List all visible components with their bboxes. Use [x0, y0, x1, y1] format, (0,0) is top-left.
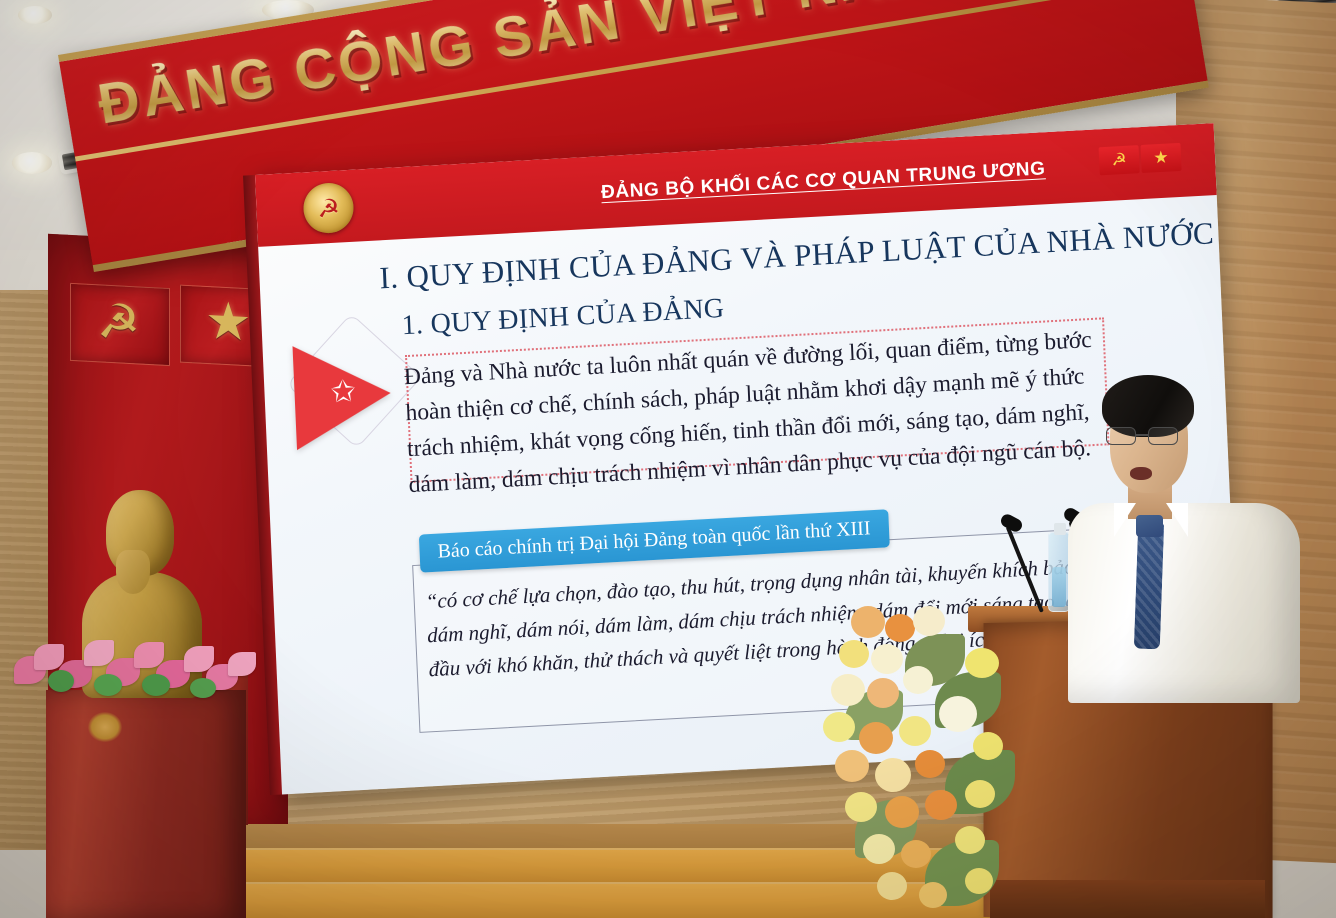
bouquet-rose — [973, 732, 1003, 760]
bouquet-rose — [885, 614, 915, 642]
glasses-bridge — [1136, 434, 1148, 436]
bouquet-rose — [965, 648, 999, 678]
bouquet-rose — [823, 712, 855, 742]
lotus-leaf — [190, 678, 216, 698]
bouquet-rose — [851, 606, 885, 638]
national-flag-icon: ★ — [1140, 143, 1181, 173]
lotus-flower-arrangement — [10, 612, 260, 722]
bouquet-rose — [965, 868, 993, 894]
bouquet-rose — [955, 826, 985, 854]
bouquet-rose — [831, 674, 865, 706]
bouquet-rose — [903, 666, 933, 694]
bouquet-rose — [885, 796, 919, 828]
bouquet-rose — [863, 834, 895, 864]
hammer-and-sickle-icon: ☭ — [97, 297, 140, 347]
star-outline-icon: ✩ — [330, 377, 356, 408]
lotus-leaf — [142, 674, 170, 696]
gold-star-icon: ★ — [205, 295, 252, 349]
bouquet-rose — [859, 722, 893, 754]
shirt-collar-left — [1114, 503, 1136, 537]
bouquet-rose — [871, 644, 903, 674]
bouquet-rose — [915, 750, 945, 778]
bouquet-rose — [901, 840, 931, 868]
lotus-leaf — [94, 674, 122, 696]
bouquet-rose — [839, 640, 869, 668]
glasses-lens-right — [1148, 427, 1178, 445]
bouquet-rose — [845, 792, 877, 822]
bouquet-rose — [913, 606, 945, 636]
bouquet-rose — [919, 882, 947, 908]
party-flag-glyph: ☭ — [1111, 151, 1127, 169]
ceiling-downlight — [12, 152, 52, 174]
shirt-collar-right — [1166, 503, 1188, 537]
flower-arrangement — [815, 600, 1045, 918]
presenter-necktie — [1134, 523, 1164, 650]
lotus-leaf — [48, 670, 74, 692]
ceiling-downlight — [18, 6, 52, 24]
bouquet-rose — [939, 696, 977, 732]
presenter-mouth — [1130, 467, 1152, 480]
bouquet-rose — [867, 678, 899, 708]
bouquet-rose — [835, 750, 869, 782]
presenter-glasses — [1106, 427, 1192, 446]
bouquet-rose — [875, 758, 911, 792]
slide-subtitle: 1. QUY ĐỊNH CỦA ĐẢNG — [401, 293, 725, 342]
bust-pedestal — [46, 690, 246, 918]
lotus-flower — [228, 652, 256, 676]
conference-hall-scene: ☭ ★ ĐẢNG CỘNG SẢN VIỆT NAM QUANG VINH MU… — [0, 0, 1336, 918]
bouquet-rose — [877, 872, 907, 900]
bouquet-rose — [899, 716, 931, 746]
emblem-panel-hammer-sickle: ☭ — [70, 283, 170, 366]
party-emblem-glyph: ☭ — [317, 195, 340, 221]
bouquet-rose — [925, 790, 957, 820]
national-flag-glyph: ★ — [1153, 149, 1169, 167]
necktie-knot — [1136, 515, 1163, 537]
presenter — [1060, 375, 1310, 695]
arrow-decoration: ✩ — [284, 322, 419, 459]
bouquet-rose — [965, 780, 995, 808]
bust-beard — [116, 550, 150, 594]
glasses-lens-left — [1106, 427, 1136, 445]
party-flag-icon: ☭ — [1099, 145, 1140, 175]
flag-pair: ☭ ★ — [1099, 143, 1182, 175]
